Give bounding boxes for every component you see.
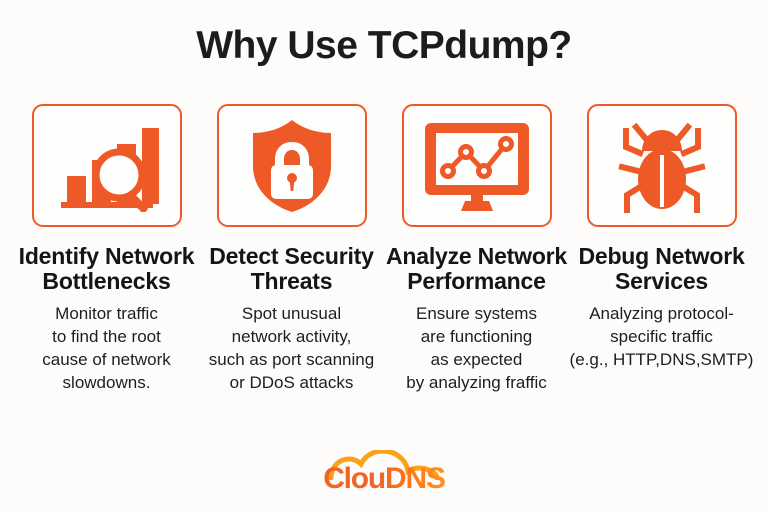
icon-card-detect <box>217 104 367 227</box>
shield-lock-icon <box>248 118 336 214</box>
feature-column-analyze: Analyze Network Performance Ensure syste… <box>384 104 569 394</box>
bar-chart-magnifier-icon <box>55 120 159 212</box>
bug-icon <box>610 117 714 215</box>
logo-text: ClouDNS <box>309 462 459 496</box>
feature-columns: Identify Network Bottlenecks Monitor tra… <box>14 104 754 394</box>
icon-card-identify <box>32 104 182 227</box>
feature-column-debug: Debug Network Services Analyzing protoco… <box>569 104 754 371</box>
brand-logo: ClouDNS <box>0 450 768 498</box>
icon-card-analyze <box>402 104 552 227</box>
icon-card-debug <box>587 104 737 227</box>
feature-heading: Detect Security Threats <box>199 244 384 294</box>
feature-body: Monitor traffic to find the root cause o… <box>42 302 171 394</box>
feature-column-detect: Detect Security Threats Spot unusual net… <box>199 104 384 394</box>
monitor-line-chart-icon <box>421 119 533 213</box>
feature-body: Spot unusual network activity, such as p… <box>209 302 374 394</box>
feature-heading: Debug Network Services <box>569 244 754 294</box>
page-title: Why Use TCPdump? <box>0 22 768 70</box>
feature-body: Analyzing protocol- specific traffic (e.… <box>570 302 754 371</box>
feature-body: Ensure systems are functioning as expect… <box>406 302 546 394</box>
logo-mark: ClouDNS <box>309 450 459 498</box>
feature-heading: Identify Network Bottlenecks <box>14 244 199 294</box>
feature-column-identify: Identify Network Bottlenecks Monitor tra… <box>14 104 199 394</box>
feature-heading: Analyze Network Performance <box>384 244 569 294</box>
infographic-page: Why Use TCPdump? <box>0 0 768 512</box>
